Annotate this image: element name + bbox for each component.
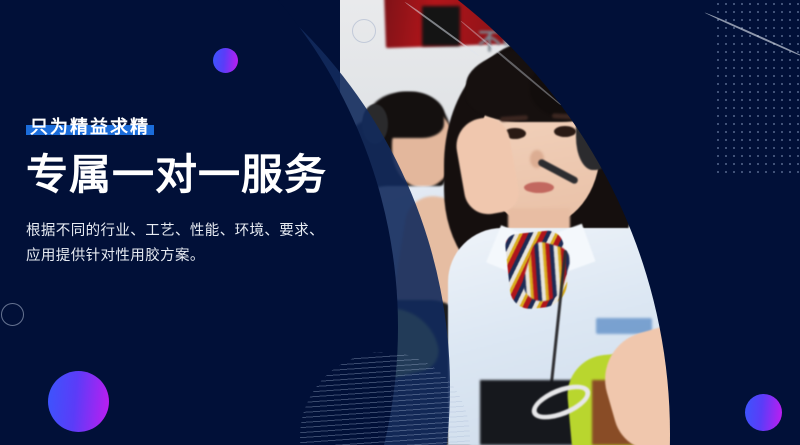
dot-grid-pattern bbox=[714, 0, 800, 176]
description-text: 根据不同的行业、工艺、性能、环境、要求、 应用提供针对性用胶方案。 bbox=[26, 219, 356, 268]
eyebrow-text: 只为精益求精 bbox=[30, 118, 150, 136]
gradient-circle-bottom-left bbox=[48, 371, 109, 432]
photo-agent-mouth bbox=[524, 182, 554, 193]
gradient-circle-top bbox=[213, 48, 238, 73]
page-title: 专属一对一服务 bbox=[26, 152, 356, 197]
ring-outline-left bbox=[1, 303, 24, 326]
text-block: 只为精益求精 专属一对一服务 根据不同的行业、工艺、性能、环境、要求、 应用提供… bbox=[26, 118, 356, 268]
promo-banner: 不努力就是淡季 bbox=[0, 0, 800, 445]
eyebrow-wrap: 只为精益求精 bbox=[26, 118, 154, 136]
ring-outline-top bbox=[352, 19, 376, 43]
gradient-circle-bottom-right bbox=[745, 394, 782, 431]
photo-banner-figure bbox=[422, 6, 460, 46]
photo-agent-earpiece bbox=[576, 92, 616, 170]
